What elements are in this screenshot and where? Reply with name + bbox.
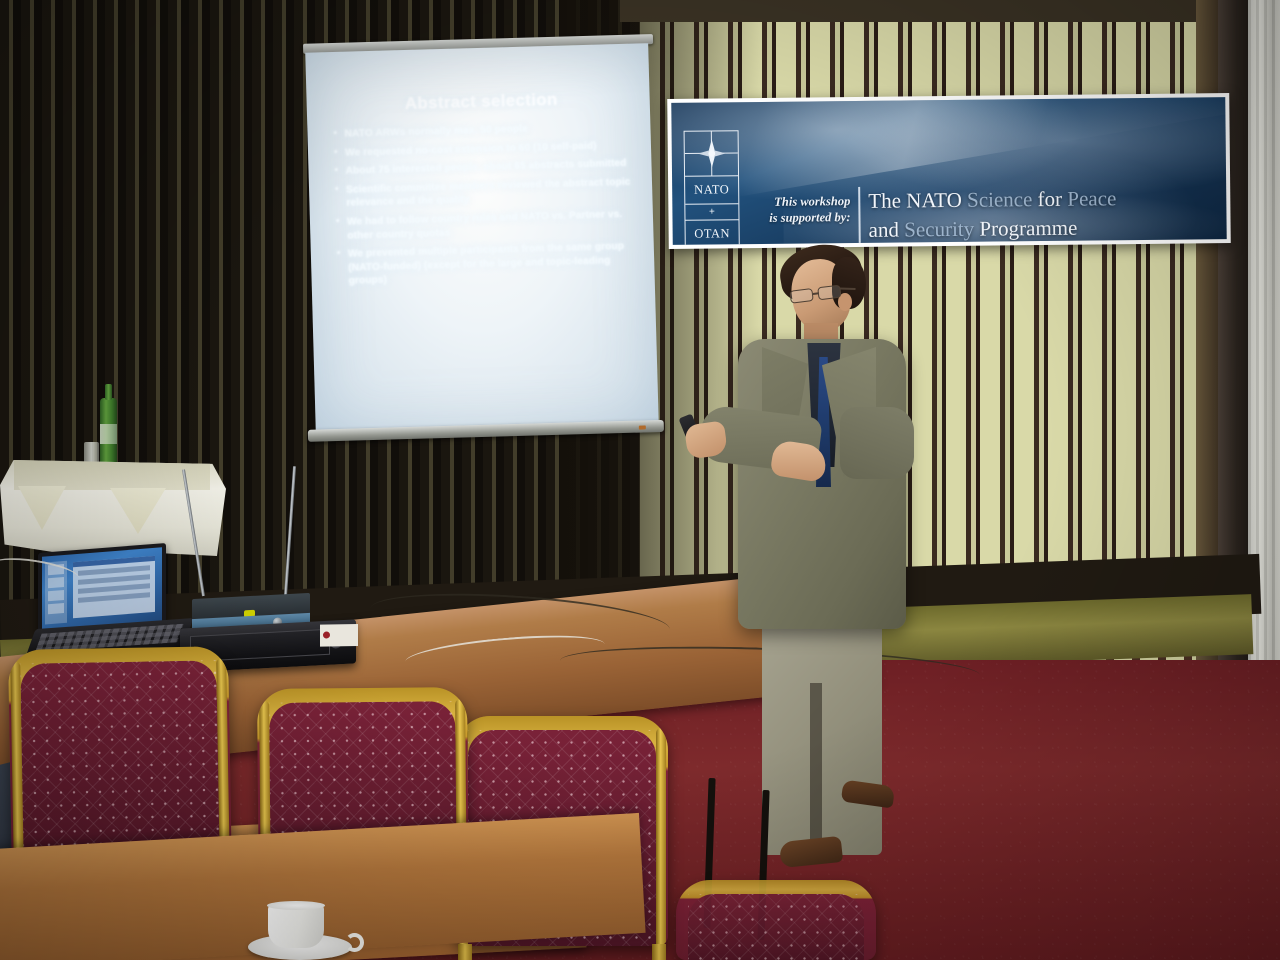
banquet-chair[interactable] [676,880,876,960]
cloth-covered-side-table [0,460,226,560]
banner-text-science: Science [967,187,1033,212]
slide-bullet: We had to follow country rules and NATO … [334,208,636,244]
banner-background: NATO + OTAN This workshop is supported b… [671,97,1226,245]
banner-text-and: and [868,217,904,241]
nato-logo-icon: NATO + OTAN [684,130,740,245]
banner-text-the-nato: The NATO [868,188,967,213]
banner-main-line-1: The NATO Science for Peace [868,183,1218,216]
slide-bullet: About 75 interested people, about 65 abs… [332,157,633,179]
banner-support-line-1: This workshop [758,193,850,210]
slide-bullet: We requested no-cost extension to 60 (10… [332,138,633,160]
glasses-lens-left [789,288,813,304]
banner-text-programme: Programme [974,216,1077,241]
nato-compass-star-cell [685,131,738,176]
coffee-cup [268,904,324,948]
chair-back [676,880,876,960]
chair-frame-right [656,728,666,946]
tablecloth [0,460,226,556]
tablecloth-fold-right [110,488,166,534]
banner-text-security: Security [904,217,974,242]
glasses-arm [840,287,856,289]
tablecloth-fold-left [18,486,66,530]
shoe-left [779,836,843,868]
presenter-person [680,243,942,893]
banner-divider [858,187,860,243]
projected-slide: Abstract selection NATO ARWs normally ma… [305,43,659,434]
arm-right [840,407,914,479]
banner-text-peace: Peace [1067,186,1116,211]
chair-foot-left [458,944,472,960]
slide-bullet: We prevented multiple participants from … [335,240,637,289]
laptop-screen [42,547,162,632]
slide-bullet: NATO ARWs normally max. 50 people [331,120,632,142]
cup-rim [267,901,325,910]
bottle-label [100,424,117,444]
conference-room-photo: Abstract selection NATO ARWs normally ma… [0,0,1280,960]
banner-programme-text: The NATO Science for Peace and Security … [868,183,1219,245]
chair-foot-right [652,944,666,960]
tablecloth-top [14,460,210,490]
screen-window [73,556,155,618]
projection-screen: Abstract selection NATO ARWs normally ma… [297,34,665,464]
slide-bullet: Scientific committee members reviewed th… [333,175,635,211]
banner-main-line-2: and Security Programme [868,212,1218,245]
green-water-bottle [100,398,117,466]
nato-logo-plus: + [685,204,738,220]
trousers [762,615,882,855]
amplifier-sticker [320,624,358,647]
coffee-cup-and-saucer[interactable] [248,902,352,960]
compass-star-icon [696,138,726,168]
sticker-logo-dot [323,631,330,638]
chair-cushion [688,894,864,960]
bottle-neck [105,384,112,400]
nato-logo-text-top: NATO [685,176,738,205]
wall-top-trim [620,0,1260,22]
leg-separation [810,683,822,851]
banner-support-line-2: is supported by: [758,209,850,226]
nato-logo-text-bottom: OTAN [686,220,739,245]
screen-pull-knob [639,425,646,429]
slide-bullet-list: NATO ARWs normally max. 50 people We req… [331,120,636,289]
glasses-lens-right [817,285,841,301]
slide-title: Abstract selection [330,88,631,116]
nato-sponsor-banner: NATO + OTAN This workshop is supported b… [667,93,1231,249]
banner-text-for: for [1032,187,1067,211]
banner-support-text: This workshop is supported by: [758,193,850,226]
cup-handle [345,933,364,952]
